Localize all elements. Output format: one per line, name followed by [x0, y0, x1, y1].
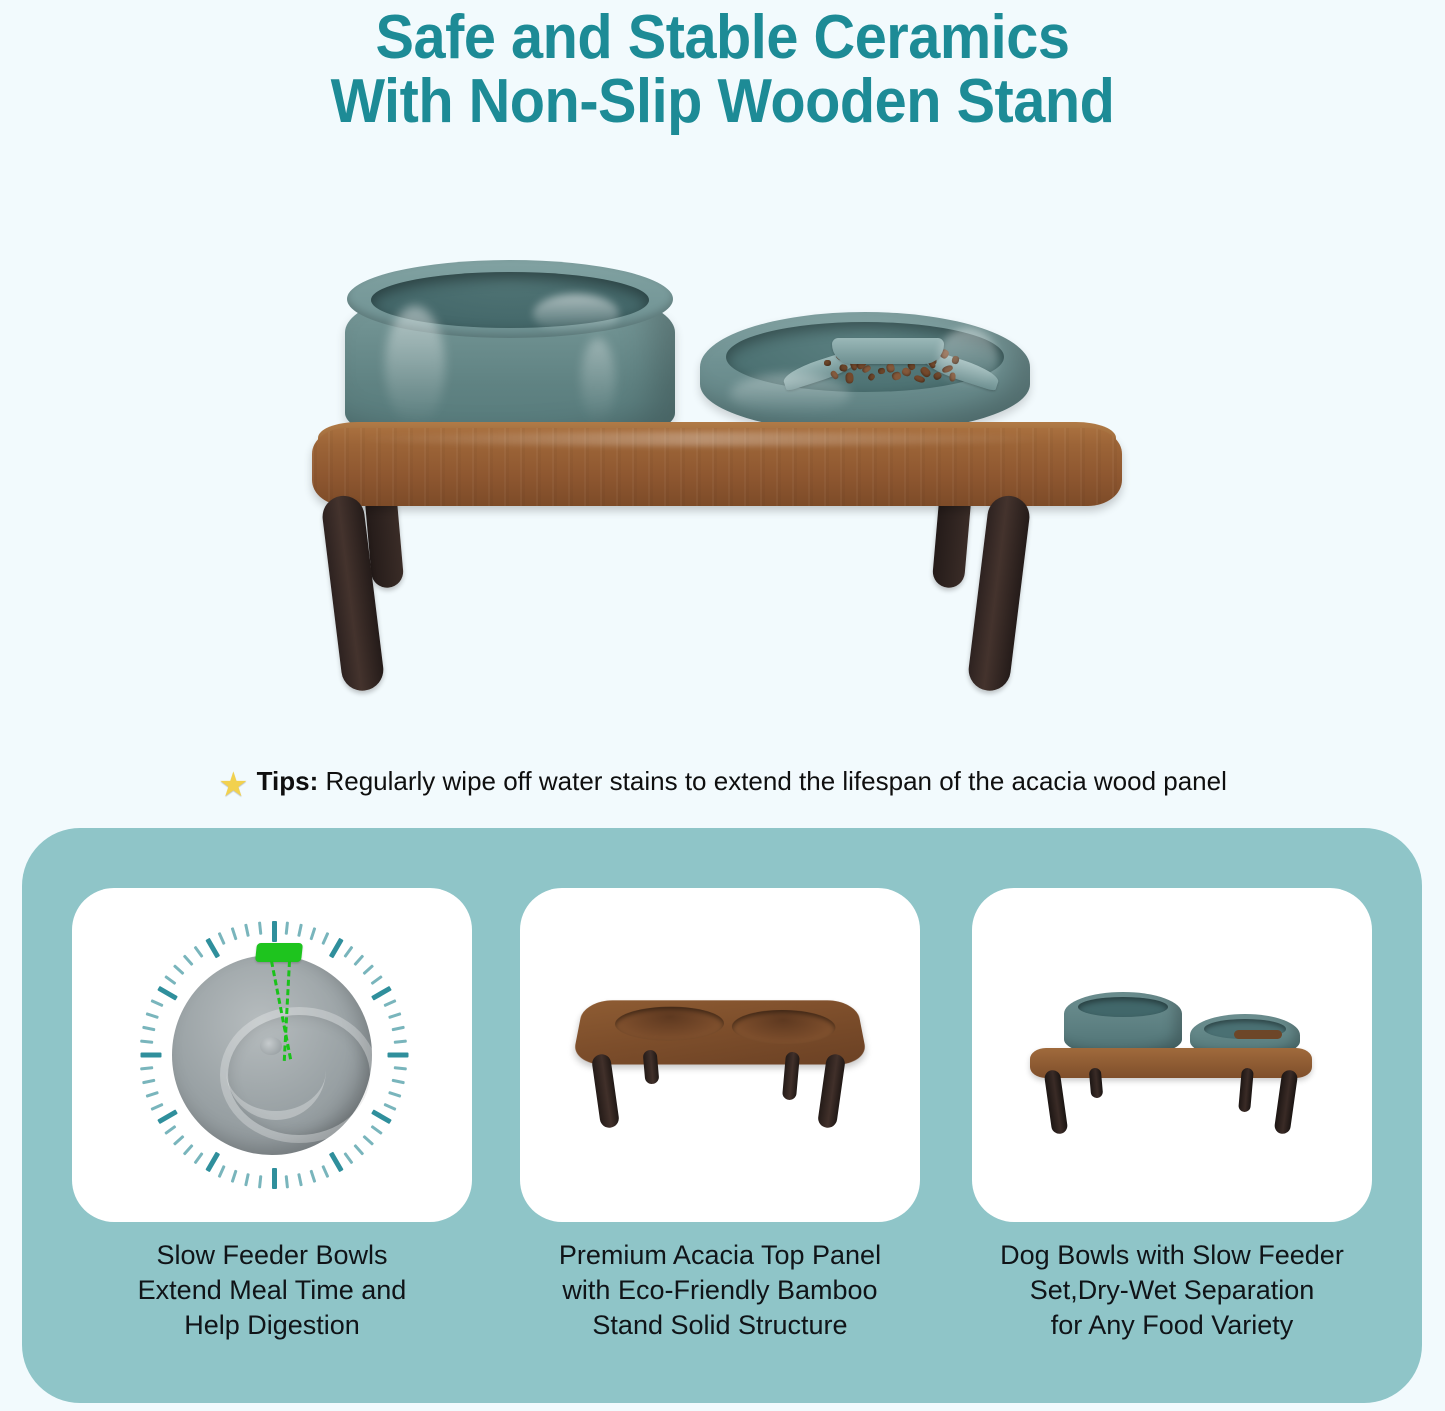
- slow-bowl-highlight: [730, 374, 850, 414]
- stand-leg-front-right: [966, 493, 1032, 693]
- dial-tick-minor: [388, 1012, 401, 1019]
- page-title-line-2: With Non-Slip Wooden Stand: [51, 70, 1395, 134]
- mini-acacia-panel: [1030, 1048, 1312, 1078]
- hero-stage: [300, 250, 1150, 730]
- caption-1-line-2: Extend Meal Time and: [72, 1273, 472, 1308]
- dial-tick-minor: [146, 1091, 159, 1098]
- dial-tick-minor: [194, 946, 204, 958]
- set3-leg-back-right: [1238, 1067, 1254, 1112]
- dial-tick-major: [205, 938, 220, 959]
- dial-tick-minor: [388, 1091, 401, 1098]
- dial-bowl-graphic: [172, 955, 372, 1155]
- dial-tick-minor: [142, 1026, 155, 1032]
- caption-2-line-1: Premium Acacia Top Panel: [520, 1238, 920, 1273]
- dial-tick-minor: [164, 1125, 176, 1135]
- kibble-piece: [867, 372, 876, 381]
- dial-tick-minor: [258, 1175, 262, 1188]
- hero-product-image: [0, 200, 1445, 740]
- page-title-line-1: Safe and Stable Ceramics: [51, 6, 1395, 70]
- dial-tick-minor: [218, 932, 226, 945]
- caption-2-line-3: Stand Solid Structure: [520, 1308, 920, 1343]
- feature-panel: Slow Feeder Bowls Extend Meal Time and H…: [22, 828, 1422, 1403]
- dial-tick-minor: [244, 924, 250, 937]
- dial-tick-minor: [164, 975, 176, 985]
- dial-tick-minor: [343, 946, 353, 958]
- dial-tick-minor: [244, 1173, 250, 1186]
- deep-bowl-highlight-top: [533, 294, 619, 334]
- set3-leg-front-left: [1044, 1069, 1069, 1135]
- tips-text: Regularly wipe off water stains to exten…: [325, 766, 1226, 796]
- dial-tick-major: [272, 921, 277, 942]
- caption-2-line-2: with Eco-Friendly Bamboo: [520, 1273, 920, 1308]
- set3-leg-front-right: [1274, 1069, 1299, 1135]
- dial-tick-minor: [394, 1066, 407, 1070]
- feature-card-acacia-stand: [520, 888, 920, 1222]
- deep-bowl-highlight-left: [385, 306, 445, 426]
- dial-tick-major: [371, 1109, 392, 1124]
- dial-tick-minor: [343, 1152, 353, 1164]
- slow-bowl-highlight-right: [938, 328, 998, 390]
- dial-tick-minor: [309, 1170, 316, 1183]
- dial-tick-major: [141, 1053, 162, 1058]
- page-title: Safe and Stable Ceramics With Non-Slip W…: [51, 6, 1395, 134]
- dial-tick-major: [388, 1053, 409, 1058]
- feature-caption-1: Slow Feeder Bowls Extend Meal Time and H…: [72, 1238, 472, 1343]
- dial-tick-minor: [218, 1165, 226, 1178]
- acacia-panel: [312, 428, 1122, 506]
- full-bowl-set-icon: [1022, 972, 1322, 1152]
- dial-tick-minor: [285, 1175, 289, 1188]
- kibble-piece: [891, 371, 902, 381]
- dial-tick-minor: [394, 1040, 407, 1044]
- kibble-piece: [839, 364, 848, 372]
- dial-tick-minor: [140, 1066, 153, 1070]
- dial-tick-minor: [371, 1125, 383, 1135]
- dial-tick-minor: [231, 1170, 238, 1183]
- dial-green-marker: [255, 943, 303, 962]
- dial-tick-minor: [173, 1135, 185, 1146]
- feature-caption-2: Premium Acacia Top Panel with Eco-Friend…: [520, 1238, 920, 1343]
- bowl-recess-left: [613, 1006, 724, 1040]
- dial-tick-major: [205, 1152, 220, 1173]
- stand2-leg-back-right: [782, 1051, 800, 1100]
- dial-tick-minor: [183, 1144, 194, 1156]
- set3-leg-back-left: [1089, 1067, 1104, 1098]
- bowl-recess-right: [732, 1010, 838, 1044]
- dial-tick-minor: [353, 1144, 364, 1156]
- dial-tick-major: [329, 1152, 344, 1173]
- dial-tick-minor: [353, 954, 364, 966]
- dial-tick-minor: [142, 1079, 155, 1085]
- dial-tick-minor: [392, 1079, 405, 1085]
- dial-tick-minor: [362, 1135, 374, 1146]
- dial-tick-minor: [309, 927, 316, 940]
- dial-tick-minor: [321, 932, 329, 945]
- caption-3-line-1: Dog Bowls with Slow Feeder: [972, 1238, 1372, 1273]
- dial-tick-minor: [383, 999, 396, 1007]
- mini-deep-bowl: [1064, 992, 1182, 1056]
- stand2-leg-back-left: [643, 1049, 660, 1084]
- deep-bowl-highlight-right: [581, 338, 615, 424]
- dial-tick-minor: [183, 954, 194, 966]
- dial-tick-minor: [150, 1103, 163, 1111]
- dial-tick-minor: [146, 1012, 159, 1019]
- mini-kibble: [1234, 1030, 1282, 1039]
- dial-tick-minor: [297, 924, 303, 937]
- dial-tick-major: [157, 986, 178, 1001]
- dial-tick-minor: [194, 1152, 204, 1164]
- mini-slow-bowl-interior: [1204, 1019, 1286, 1039]
- kibble-piece: [877, 367, 885, 374]
- feature-card-bowl-set: [972, 888, 1372, 1222]
- dial-tick-minor: [285, 922, 289, 935]
- dial-center-hub: [260, 1037, 282, 1055]
- caption-1-line-1: Slow Feeder Bowls: [72, 1238, 472, 1273]
- caption-3-line-2: Set,Dry-Wet Separation: [972, 1273, 1372, 1308]
- acacia-stand-icon: [570, 982, 870, 1142]
- mini-deep-bowl-interior: [1078, 997, 1168, 1017]
- stand-top-panel: [571, 1000, 868, 1064]
- dial-tick-minor: [231, 927, 238, 940]
- caption-1-line-3: Help Digestion: [72, 1308, 472, 1343]
- kibble-piece: [824, 360, 831, 366]
- dial-tick-minor: [140, 1040, 153, 1044]
- dial-tick-major: [272, 1168, 277, 1189]
- dial-tick-minor: [371, 975, 383, 985]
- dial-tick-minor: [383, 1103, 396, 1111]
- dial-tick-minor: [150, 999, 163, 1007]
- dial-tick-minor: [392, 1026, 405, 1032]
- dial-tick-minor: [258, 922, 262, 935]
- kibble-piece: [845, 372, 853, 383]
- dial-tick-minor: [297, 1173, 303, 1186]
- dial-tick-minor: [173, 964, 185, 975]
- dial-tick-minor: [321, 1165, 329, 1178]
- dial-tick-major: [371, 986, 392, 1001]
- caption-3-line-3: for Any Food Variety: [972, 1308, 1372, 1343]
- slow-feeder-dial-icon: [138, 921, 406, 1189]
- feature-caption-3: Dog Bowls with Slow Feeder Set,Dry-Wet S…: [972, 1238, 1372, 1343]
- tips-label: Tips:: [257, 766, 319, 796]
- feature-card-slow-feeder: [72, 888, 472, 1222]
- tips-line: ★Tips: Regularly wipe off water stains t…: [0, 765, 1445, 805]
- dial-tick-major: [157, 1109, 178, 1124]
- star-icon: ★: [218, 765, 248, 805]
- dial-tick-minor: [362, 964, 374, 975]
- slow-feeder-ridge-center: [832, 338, 944, 364]
- dial-tick-major: [329, 938, 344, 959]
- wood-sheen: [352, 432, 1052, 446]
